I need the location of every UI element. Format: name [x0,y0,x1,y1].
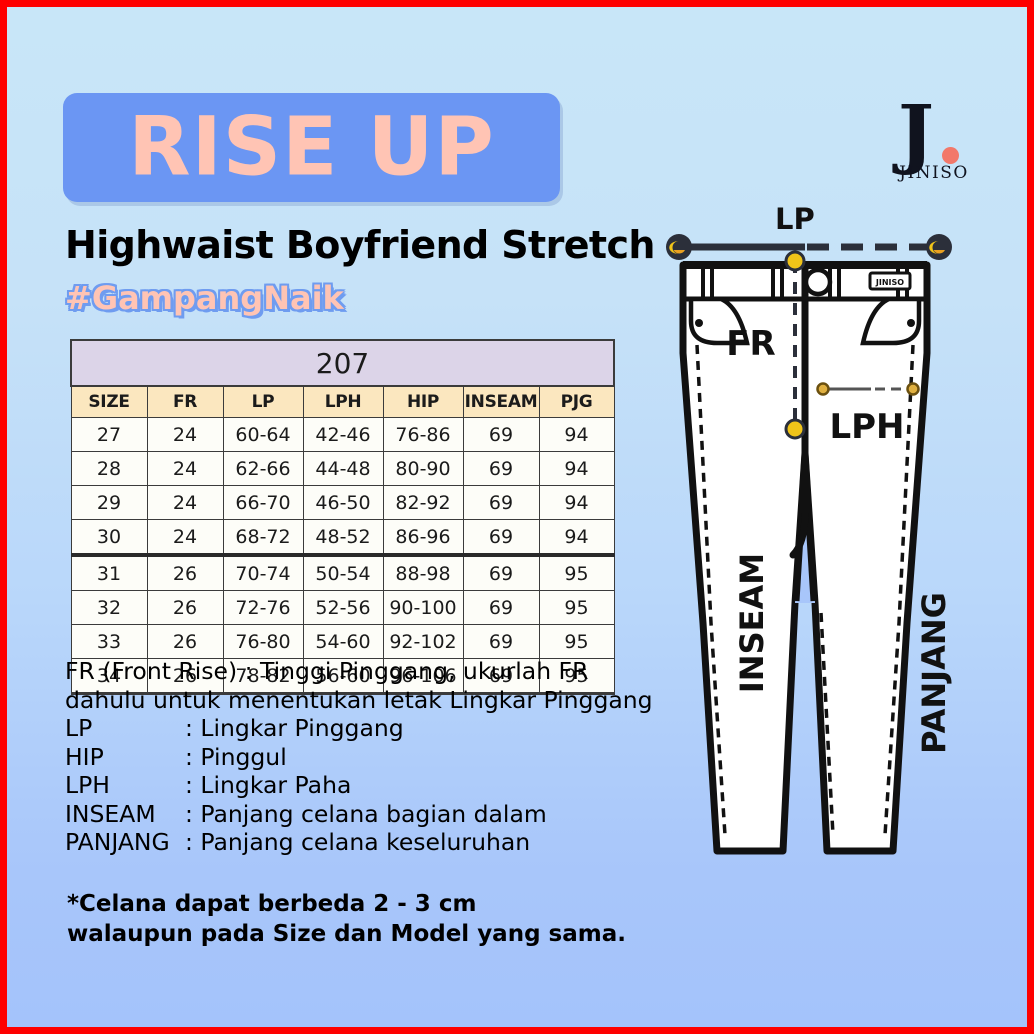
cell-fr: 24 [147,520,223,556]
cell-lph: 52-56 [303,591,383,625]
model-code-cell: 207 [71,340,614,386]
cell-hip: 80-90 [383,452,463,486]
logo-wordmark: JINISO [884,163,984,183]
cell-lph: 54-60 [303,625,383,659]
disclaimer-note: *Celana dapat berbeda 2 - 3 cm walaupun … [67,889,626,949]
table-row: 312670-7450-5488-986995 [71,555,614,591]
legend-key: LP [65,714,185,743]
table-row: 302468-7248-5286-966994 [71,520,614,556]
waistband-brand-tag: JINISO [870,273,910,289]
disclaimer-line-2: walaupun pada Size dan Model yang sama. [67,919,626,949]
label-fr: FR [726,324,775,364]
tag-text: JINISO [875,278,904,287]
product-subtitle: Highwaist Boyfriend Stretch [65,223,655,267]
column-header-size: SIZE [71,386,147,418]
cell-lph: 44-48 [303,452,383,486]
logo-dot-icon [942,147,959,164]
legend-value: : Panjang celana bagian dalam [185,800,547,829]
cell-lp: 72-76 [223,591,303,625]
logo-j-mark: J [898,95,934,171]
cell-size: 27 [71,418,147,452]
cell-pjg: 94 [539,418,614,452]
rise-up-title: RISE UP [63,107,560,188]
column-header-lph: LPH [303,386,383,418]
table-row: 332676-8054-6092-1026995 [71,625,614,659]
cell-lp: 62-66 [223,452,303,486]
cell-pjg: 95 [539,591,614,625]
table-row: 322672-7652-5690-1006995 [71,591,614,625]
cell-size: 29 [71,486,147,520]
jeans-diagram: JINISO [655,203,985,863]
legend-value: : Lingkar Pinggang [185,714,404,743]
legend-fr-line-2: dahulu untuk menentukan letak Lingkar Pi… [65,686,705,715]
table-model-row: 207 [71,340,614,386]
cell-hip: 88-98 [383,555,463,591]
legend-key: INSEAM [65,800,185,829]
lp-marker-right-icon [926,234,952,260]
brand-logo: J JINISO [884,99,984,191]
label-lph: LPH [829,407,904,447]
cell-fr: 24 [147,418,223,452]
cell-hip: 92-102 [383,625,463,659]
disclaimer-line-1: *Celana dapat berbeda 2 - 3 cm [67,889,626,919]
cell-inseam: 69 [463,486,539,520]
cell-inseam: 69 [463,591,539,625]
rise-up-badge: RISE UP [63,93,560,202]
legend-item: LP: Lingkar Pinggang [65,714,705,743]
legend-key: PANJANG [65,828,185,857]
cell-hip: 90-100 [383,591,463,625]
column-header-lp: LP [223,386,303,418]
cell-lph: 50-54 [303,555,383,591]
legend-item: HIP: Pinggul [65,743,705,772]
table-header-row: SIZEFRLPLPHHIPINSEAMPJG [71,386,614,418]
cell-fr: 26 [147,591,223,625]
column-header-fr: FR [147,386,223,418]
cell-pjg: 95 [539,555,614,591]
legend-value: : Panjang celana keseluruhan [185,828,530,857]
column-header-pjg: PJG [539,386,614,418]
cell-size: 32 [71,591,147,625]
cell-inseam: 69 [463,452,539,486]
cell-size: 33 [71,625,147,659]
cell-lph: 42-46 [303,418,383,452]
size-chart-table: 207SIZEFRLPLPHHIPINSEAMPJG272460-6442-46… [70,339,615,695]
campaign-hashtag: #GampangNaik [65,279,344,317]
table-row: 282462-6644-4880-906994 [71,452,614,486]
cell-inseam: 69 [463,418,539,452]
cell-inseam: 69 [463,555,539,591]
cell-lp: 60-64 [223,418,303,452]
lp-marker-left-icon [666,234,692,260]
cell-fr: 26 [147,625,223,659]
cell-inseam: 69 [463,520,539,556]
table-row: 272460-6442-4676-866994 [71,418,614,452]
cell-inseam: 69 [463,625,539,659]
cell-hip: 76-86 [383,418,463,452]
cell-lp: 66-70 [223,486,303,520]
lp-measure-line [666,234,952,260]
cell-pjg: 94 [539,486,614,520]
column-header-inseam: INSEAM [463,386,539,418]
cell-hip: 86-96 [383,520,463,556]
legend-key: HIP [65,743,185,772]
legend-value: : Lingkar Paha [185,771,351,800]
measurement-legend: FR (Front Rise) : Tinggi Pinggang, ukurl… [65,657,705,857]
cell-lph: 48-52 [303,520,383,556]
cell-fr: 26 [147,555,223,591]
legend-fr-line-1: FR (Front Rise) : Tinggi Pinggang, ukurl… [65,657,705,686]
cell-lp: 76-80 [223,625,303,659]
cell-pjg: 94 [539,452,614,486]
cell-size: 30 [71,520,147,556]
cell-lp: 70-74 [223,555,303,591]
legend-item: PANJANG: Panjang celana keseluruhan [65,828,705,857]
cell-lph: 46-50 [303,486,383,520]
cell-fr: 24 [147,452,223,486]
label-lp: LP [775,202,815,236]
cell-hip: 82-92 [383,486,463,520]
label-inseam: INSEAM [733,553,771,693]
cell-fr: 24 [147,486,223,520]
cell-size: 31 [71,555,147,591]
legend-key: LPH [65,771,185,800]
cell-lp: 68-72 [223,520,303,556]
size-chart-poster: RISE UP Highwaist Boyfriend Stretch #Gam… [0,0,1034,1034]
legend-value: : Pinggul [185,743,287,772]
legend-item: LPH: Lingkar Paha [65,771,705,800]
label-panjang: PANJANG [915,592,953,754]
legend-item: INSEAM: Panjang celana bagian dalam [65,800,705,829]
table-row: 292466-7046-5082-926994 [71,486,614,520]
column-header-hip: HIP [383,386,463,418]
cell-pjg: 94 [539,520,614,556]
cell-size: 28 [71,452,147,486]
cell-pjg: 95 [539,625,614,659]
